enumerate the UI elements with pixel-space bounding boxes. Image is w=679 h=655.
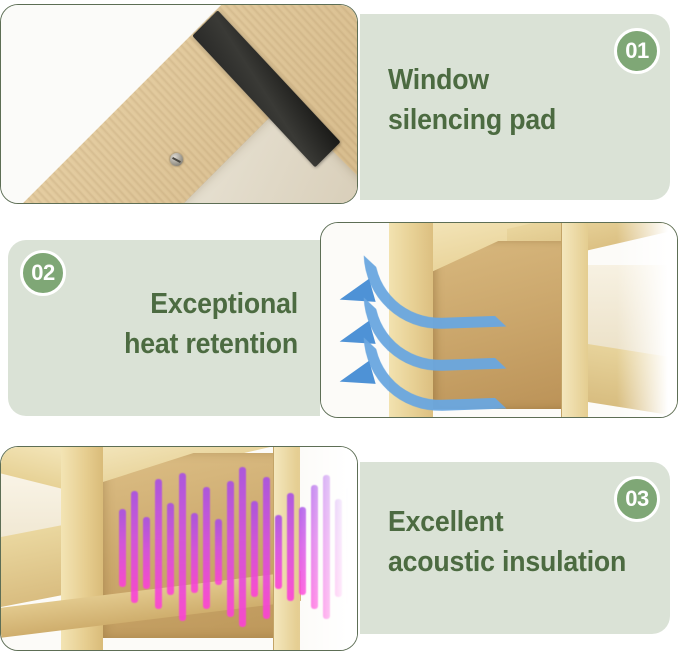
sound-wave-bar [239, 467, 246, 627]
sound-wave-bar [215, 519, 222, 585]
feature-photo-3 [0, 446, 358, 651]
photo-background [321, 223, 677, 417]
sound-wave-bar [275, 515, 282, 589]
sound-wave-bar [263, 477, 270, 619]
cabinet-front-edge [561, 222, 588, 418]
step-badge-2: 02 [20, 250, 66, 296]
sound-wave-bar [347, 487, 354, 605]
sound-wave-bar [251, 501, 258, 597]
feature-photo-1 [0, 4, 358, 204]
feature-photo-2 [320, 222, 678, 418]
sound-wave-bar [119, 509, 126, 587]
sound-wave-bar [179, 473, 186, 621]
sound-wave-bar [287, 493, 294, 601]
step-badge-1: 01 [614, 28, 660, 74]
sound-wave-bar [167, 503, 174, 595]
arrow-tail [364, 333, 507, 414]
sound-wave-bar [191, 513, 198, 593]
screw-icon [170, 153, 183, 166]
sound-wave-bar [227, 481, 234, 617]
sound-wave-bar [143, 517, 150, 589]
feature-headline-1: Window silencing pad [388, 60, 556, 140]
feature-headline-2: Exceptional heat retention [124, 284, 298, 364]
feature-headline-3: Excellent acoustic insulation [388, 502, 626, 582]
photo-background [1, 447, 357, 650]
sound-wave-bar [335, 499, 342, 597]
sound-wave-bar [155, 479, 162, 609]
sound-wave-bar [323, 475, 330, 619]
sound-wave-bar [311, 485, 318, 609]
sound-wave-bar [131, 491, 138, 603]
sound-wave-bar [203, 487, 210, 609]
sound-wave-bar [299, 507, 306, 595]
step-badge-3: 03 [614, 476, 660, 522]
arrow-head [336, 361, 375, 393]
sound-wave-graphic [119, 457, 358, 637]
